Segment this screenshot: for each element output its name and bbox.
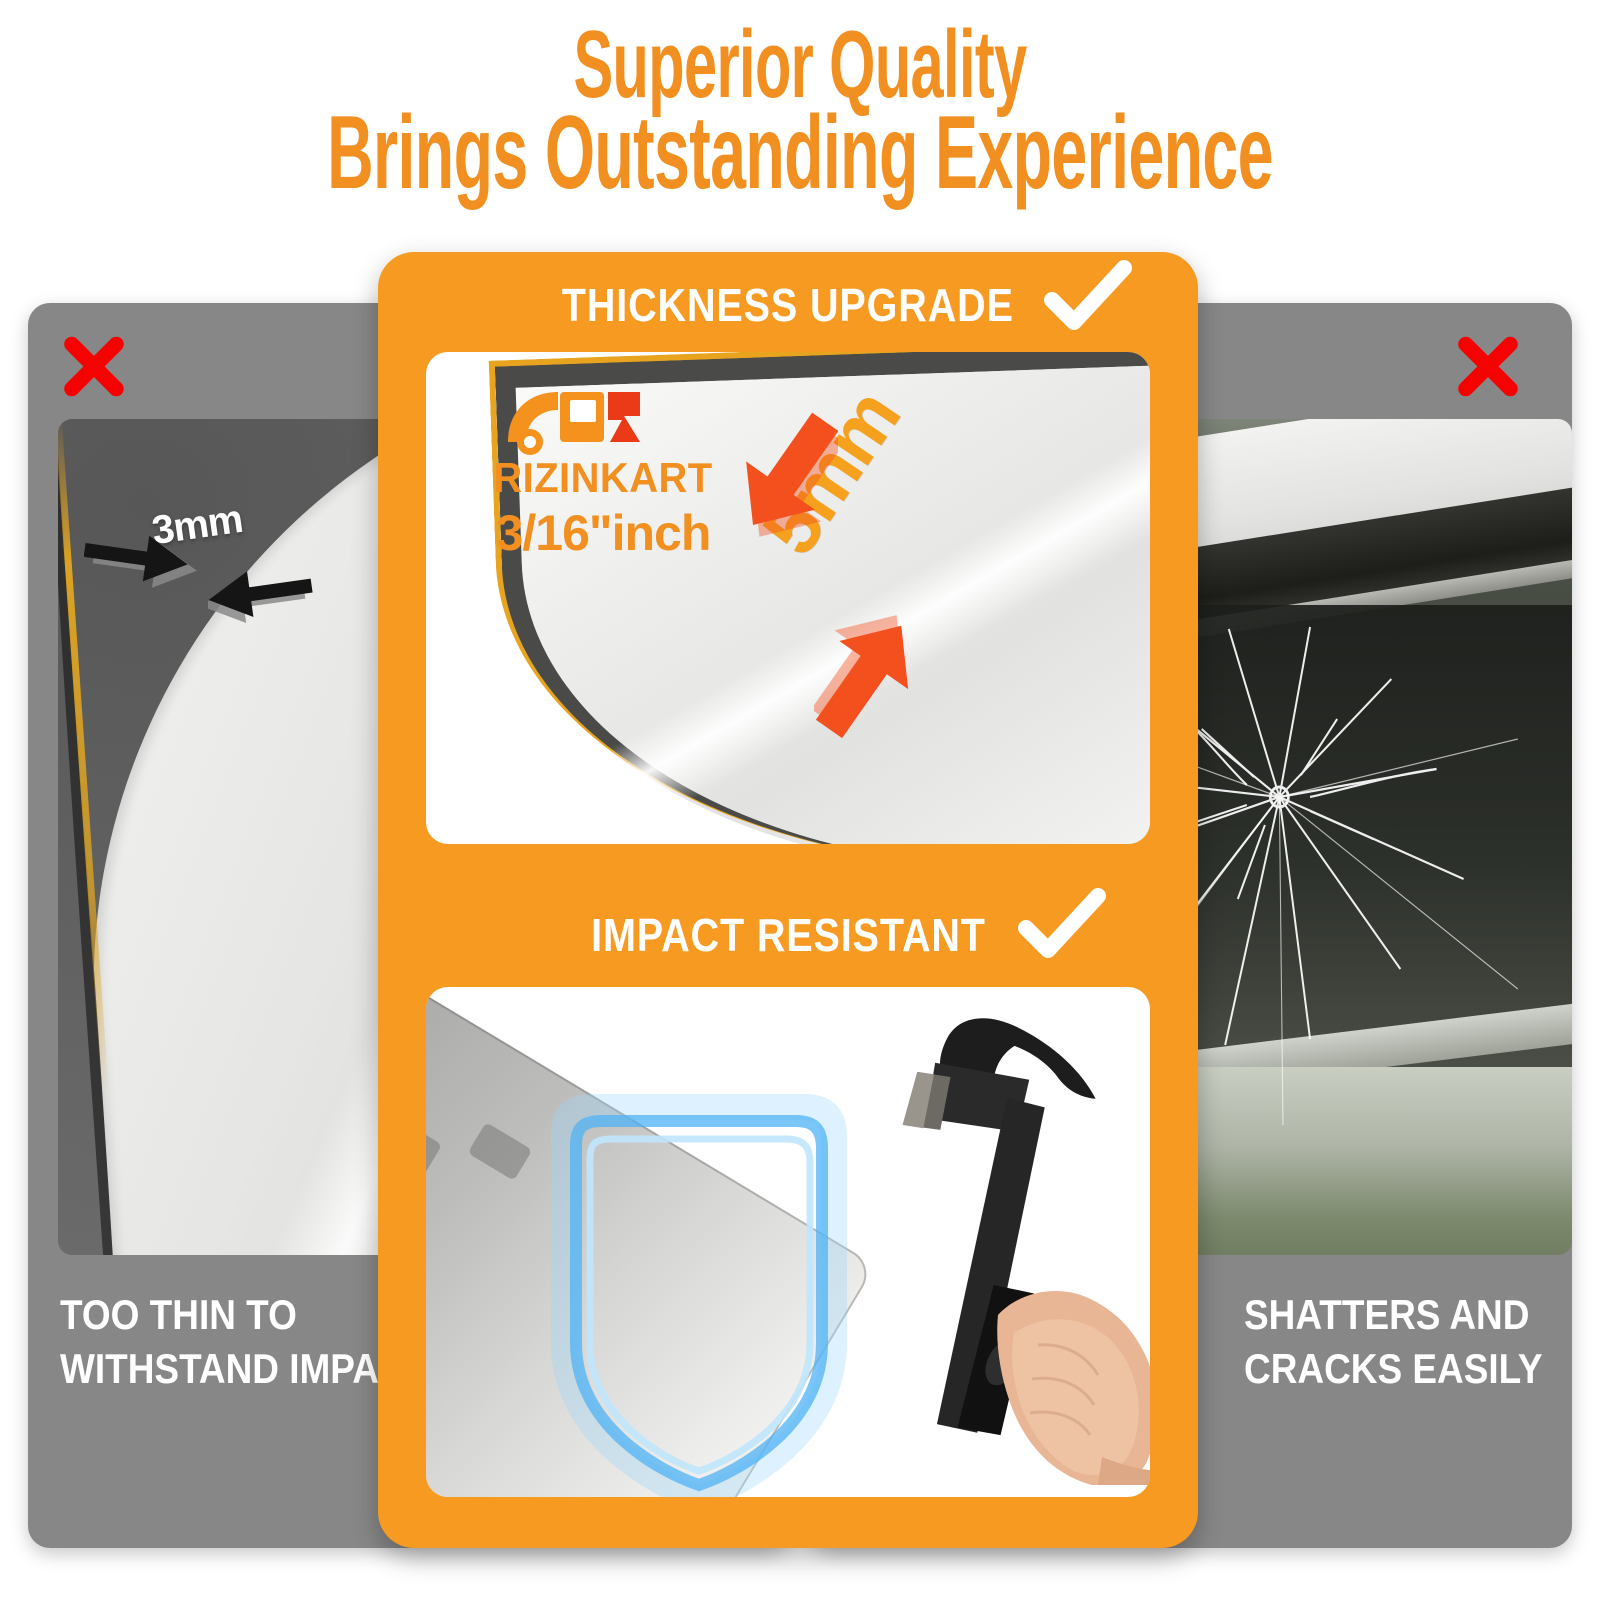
thickness-illustration-card: RIZINKART 3/16"inch 5mm	[426, 352, 1150, 844]
check-icon	[1018, 888, 1106, 962]
caption-left-line-2: WITHSTAND IMPACT	[60, 1342, 428, 1396]
brand-name: RIZINKART	[484, 454, 722, 502]
section-header-thickness: THICKNESS UPGRADE	[378, 252, 1198, 344]
arrow-red-down-icon	[738, 410, 838, 540]
arrow-red-up-icon	[814, 614, 914, 744]
impact-illustration-card	[426, 987, 1150, 1497]
caption-shatters: SHATTERS AND CRACKS EASILY	[1244, 1288, 1542, 1396]
hammer-icon	[762, 1015, 1150, 1485]
page-headline: Superior Quality Brings Outstanding Expe…	[0, 18, 1600, 204]
center-feature-card: THICKNESS UPGRADE	[378, 252, 1198, 1548]
caption-left-line-1: TOO THIN TO	[60, 1288, 428, 1342]
section-header-impact: IMPACT RESISTANT	[378, 882, 1198, 974]
red-x-icon	[1452, 330, 1524, 402]
red-x-icon	[58, 330, 130, 402]
headline-line-2: Brings Outstanding Experience	[304, 103, 1296, 204]
check-icon	[1044, 260, 1132, 334]
section-title-thickness: THICKNESS UPGRADE	[562, 278, 1014, 332]
rizinkart-cart-logo-icon	[500, 380, 670, 458]
caption-right-line-1: SHATTERS AND	[1244, 1288, 1542, 1342]
arrow-dark-right-icon	[84, 524, 214, 594]
caption-right-line-2: CRACKS EASILY	[1244, 1342, 1542, 1396]
caption-too-thin: TOO THIN TO WITHSTAND IMPACT	[60, 1288, 428, 1396]
arrow-dark-left-icon	[208, 556, 338, 626]
windshield-bracket	[468, 1122, 533, 1181]
thickness-imperial-label: 3/16"inch	[478, 504, 728, 562]
section-title-impact: IMPACT RESISTANT	[591, 908, 986, 962]
brand-logo-block: RIZINKART 3/16"inch	[478, 380, 728, 562]
windshield-bracket	[426, 1108, 442, 1186]
